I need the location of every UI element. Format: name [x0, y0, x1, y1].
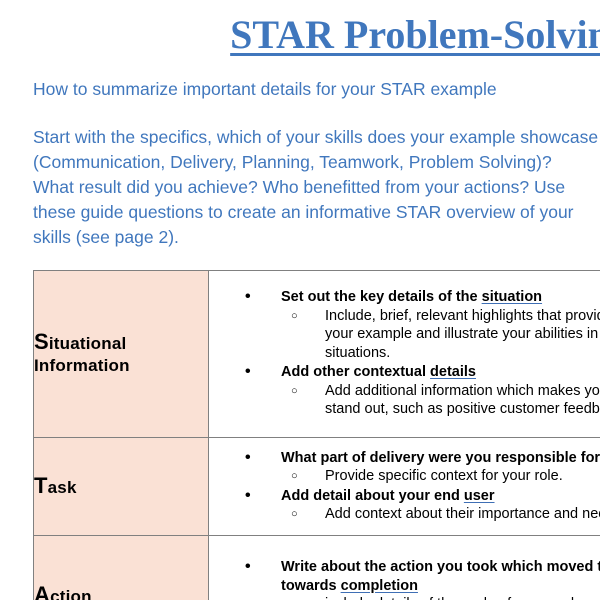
bullet-text: Add other contextual	[281, 364, 430, 380]
row-label-cap: S	[34, 329, 49, 354]
sub-bullet-list: ○ Provide specific context for your role…	[281, 467, 600, 486]
sub-bullet-line: include details of the scale of your wor…	[325, 595, 600, 600]
bullet-item: • What part of delivery were you respons…	[245, 449, 600, 486]
bullet-list: • Write about the action you took which …	[209, 558, 600, 600]
intro-line: these guide questions to create an infor…	[33, 200, 600, 225]
row-label-cell-task: Task	[34, 438, 209, 536]
bullet-item: • Write about the action you took which …	[245, 558, 600, 600]
sub-bullet-line: Provide specific context for your role.	[325, 467, 600, 486]
sub-bullet-line: stand out, such as positive customer fee…	[325, 400, 600, 419]
bullet-glyph-icon: •	[245, 449, 251, 468]
sub-bullet-item: ○ include details of the scale of your w…	[281, 595, 600, 600]
sub-bullet-line: situations.	[325, 344, 600, 363]
row-label-cap: A	[34, 582, 50, 600]
row-label-text: Action	[34, 584, 208, 600]
bullet-keyword: completion	[341, 578, 418, 594]
star-table: Situational Information • Set out the ke…	[33, 270, 600, 600]
intro-line: (Communication, Delivery, Planning, Team…	[33, 150, 600, 175]
bullet-glyph-icon: •	[245, 558, 251, 577]
row-label-cap: T	[34, 473, 48, 498]
row-label-cell-action: Action	[34, 536, 209, 600]
row-content-cell-situational-information: • Set out the key details of the situati…	[209, 271, 600, 438]
sub-bullet-item: ○ Include, brief, relevant highlights th…	[281, 307, 600, 363]
sub-bullet-line: Add context about their importance and n…	[325, 505, 600, 524]
page-title: STAR Problem-Solving	[0, 0, 600, 56]
sub-bullet-item: ○ Add context about their importance and…	[281, 505, 600, 524]
bullet-item: • Set out the key details of the situati…	[245, 288, 600, 362]
bullet-text: Set out the key details of the	[281, 289, 482, 305]
bullet-glyph-icon: •	[245, 487, 251, 506]
sub-bullet-line: Include, brief, relevant highlights that…	[325, 307, 600, 326]
bullet-text: Add detail about your end	[281, 488, 464, 504]
sub-bullet-list: ○ Add additional information which makes…	[281, 382, 600, 419]
bullet-list: • Set out the key details of the situati…	[209, 288, 600, 419]
bullet-glyph-icon: •	[245, 288, 251, 307]
intro-paragraph: Start with the specifics, which of your …	[0, 102, 600, 250]
bullet-text-wrap: towards	[281, 578, 341, 594]
intro-lead: How to summarize important details for y…	[0, 56, 600, 102]
sub-bullet-list: ○ include details of the scale of your w…	[281, 595, 600, 600]
row-content-cell-task: • What part of delivery were you respons…	[209, 438, 600, 536]
sub-bullet-glyph-icon: ○	[291, 307, 298, 327]
bullet-keyword: situation	[482, 289, 542, 305]
sub-bullet-glyph-icon: ○	[291, 382, 298, 402]
bullet-text: What part of delivery were you responsib…	[281, 450, 600, 466]
sub-bullet-item: ○ Add additional information which makes…	[281, 382, 600, 419]
row-label-text: Task	[34, 475, 208, 499]
document-page: STAR Problem-Solving How to summarize im…	[0, 0, 600, 600]
row-label-rest: ituational	[49, 334, 127, 353]
row-label-rest: ction	[50, 587, 92, 600]
intro-line: Start with the specifics, which of your …	[33, 125, 600, 150]
document-canvas: STAR Problem-Solving How to summarize im…	[0, 0, 600, 600]
sub-bullet-glyph-icon: ○	[291, 505, 298, 525]
bullet-glyph-icon: •	[245, 363, 251, 382]
sub-bullet-line: Add additional information which makes y…	[325, 382, 600, 401]
sub-bullet-line: your example and illustrate your abiliti…	[325, 325, 600, 344]
bullet-keyword: details	[430, 364, 476, 380]
bullet-item: • Add other contextual details ○ Add add…	[245, 363, 600, 419]
row-label-rest: ask	[48, 478, 77, 497]
bullet-list: • What part of delivery were you respons…	[209, 449, 600, 524]
sub-bullet-item: ○ Provide specific context for your role…	[281, 467, 600, 486]
row-content-cell-action: • Write about the action you took which …	[209, 536, 600, 600]
row-label-line2: Information	[34, 356, 130, 375]
bullet-keyword: user	[464, 488, 495, 504]
sub-bullet-glyph-icon: ○	[291, 595, 298, 600]
bullet-item: • Add detail about your end user ○ Add c…	[245, 487, 600, 524]
table-row: Situational Information • Set out the ke…	[34, 271, 600, 438]
table-row: Task • What part of delivery were you re…	[34, 438, 600, 536]
sub-bullet-list: ○ Include, brief, relevant highlights th…	[281, 307, 600, 363]
sub-bullet-glyph-icon: ○	[291, 467, 298, 487]
bullet-text: Write about the action you took which mo…	[281, 558, 600, 577]
intro-lead-text: How to summarize important details for y…	[33, 77, 600, 102]
intro-line: What result did you achieve? Who benefit…	[33, 175, 600, 200]
sub-bullet-list: ○ Add context about their importance and…	[281, 505, 600, 524]
row-label-text: Situational Information	[34, 331, 208, 377]
table-row: Action • Write about the action you took…	[34, 536, 600, 600]
intro-line: skills (see page 2).	[33, 225, 600, 250]
row-label-cell-situational-information: Situational Information	[34, 271, 209, 438]
